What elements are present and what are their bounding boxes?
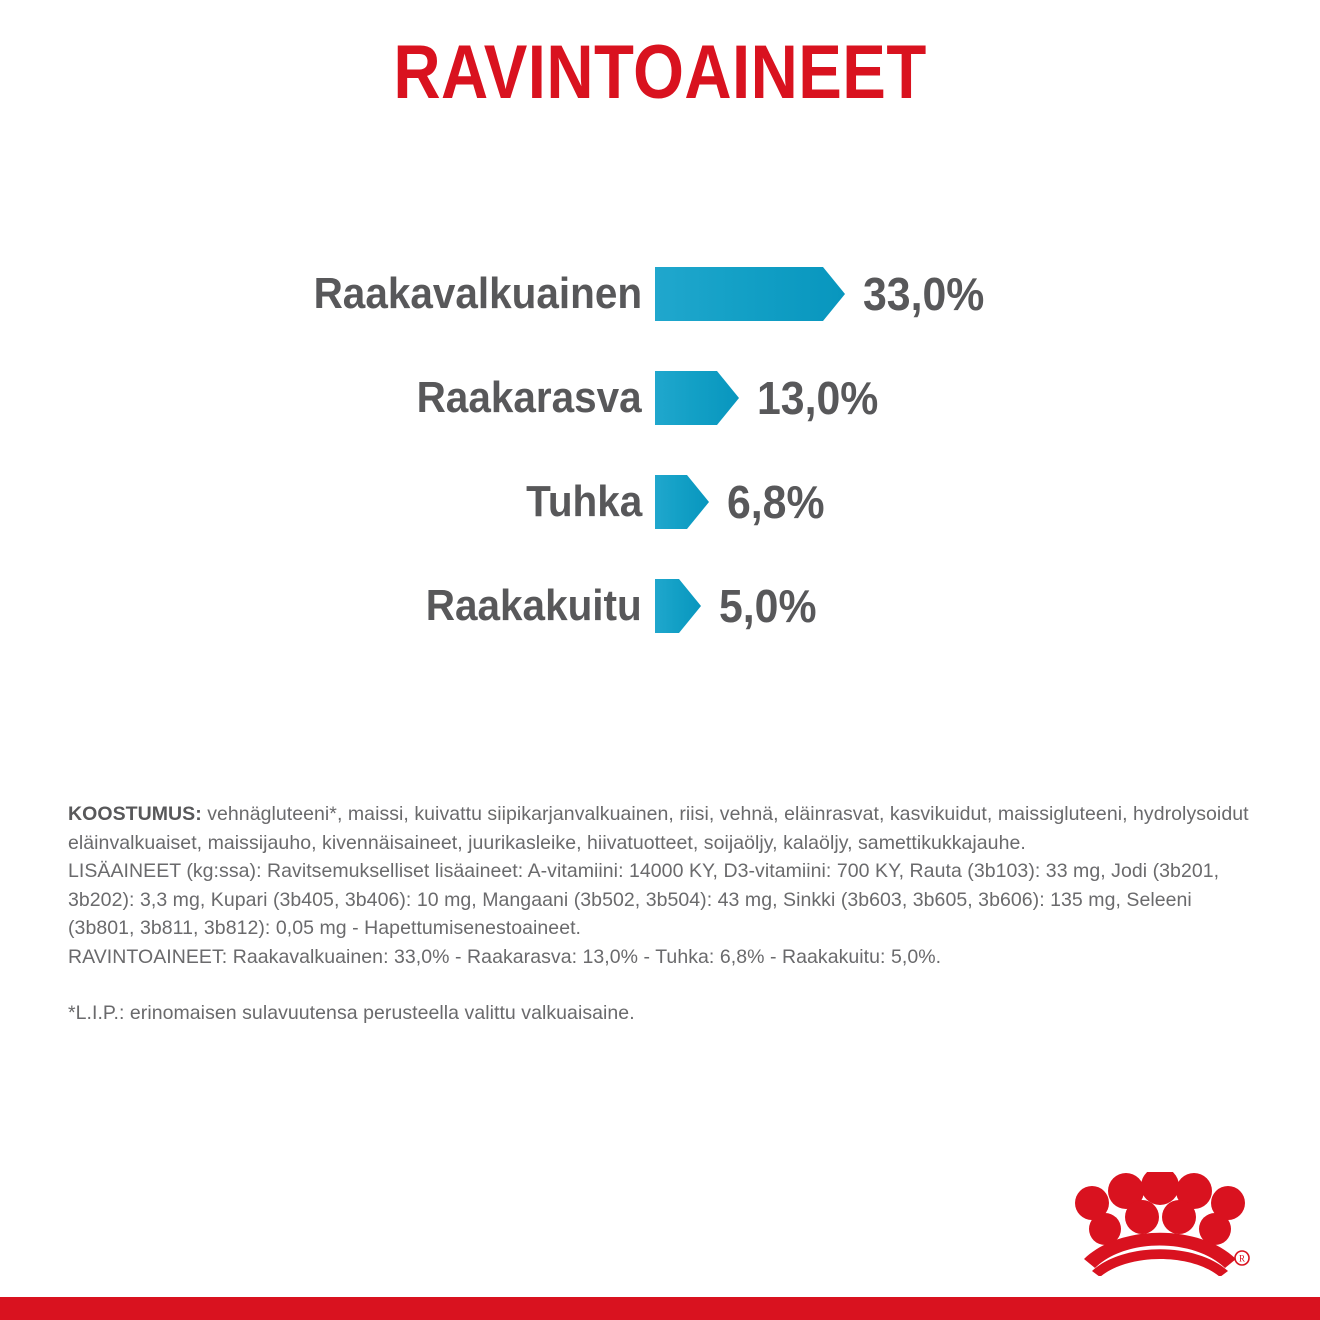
page-title: RAVINTOAINEET <box>92 28 1227 118</box>
nutrient-row: Tuhka 6,8% <box>0 450 1320 554</box>
nutrient-value-tuhka: 6,8% <box>727 476 825 528</box>
nutrient-label-tuhka: Tuhka <box>526 477 642 527</box>
bottom-accent-band <box>0 1297 1320 1320</box>
nutrient-row: Raakavalkuainen 33,0% <box>0 242 1320 346</box>
nutrient-bar-raakarasva <box>655 371 739 425</box>
analytical-constituents-paragraph: RAVINTOAINEET: Raakavalkuainen: 33,0% - … <box>68 943 1258 972</box>
nutrient-row: Raakakuitu 5,0% <box>0 554 1320 658</box>
nutrient-bar-chart: Raakavalkuainen 33,0% Raakarasva 13,0% T… <box>0 242 1320 658</box>
nutrient-value-raakarasva: 13,0% <box>757 372 878 424</box>
nutrient-bar-tuhka <box>655 475 709 529</box>
nutrient-bar-wrap <box>655 371 739 425</box>
nutrient-row: Raakarasva 13,0% <box>0 346 1320 450</box>
nutrient-label-raakakuitu: Raakakuitu <box>426 581 642 631</box>
composition-heading: KOOSTUMUS: <box>68 803 202 825</box>
nutrient-bar-wrap <box>655 579 701 633</box>
nutrient-label-raakavalkuainen: Raakavalkuainen <box>313 269 642 319</box>
nutrient-label-raakarasva: Raakarasva <box>417 373 642 423</box>
nutrient-bar-raakakuitu <box>655 579 701 633</box>
nutrient-bar-wrap <box>655 475 709 529</box>
composition-paragraph: KOOSTUMUS: vehnägluteeni*, maissi, kuiva… <box>68 800 1258 857</box>
registered-mark: R <box>1239 1254 1245 1264</box>
lip-footnote: *L.I.P.: erinomaisen sulavuutensa perust… <box>68 999 1258 1028</box>
composition-text-block: KOOSTUMUS: vehnägluteeni*, maissi, kuiva… <box>68 800 1258 1028</box>
nutrient-value-raakavalkuainen: 33,0% <box>863 268 984 320</box>
royal-canin-crown-logo: R <box>1062 1172 1256 1276</box>
nutrient-value-raakakuitu: 5,0% <box>719 580 817 632</box>
composition-ingredients: vehnägluteeni*, maissi, kuivattu siipika… <box>68 803 1249 854</box>
additives-paragraph: LISÄAINEET (kg:ssa): Ravitsemukselliset … <box>68 857 1258 943</box>
nutrient-bar-raakavalkuainen <box>655 267 845 321</box>
nutrient-bar-wrap <box>655 267 845 321</box>
